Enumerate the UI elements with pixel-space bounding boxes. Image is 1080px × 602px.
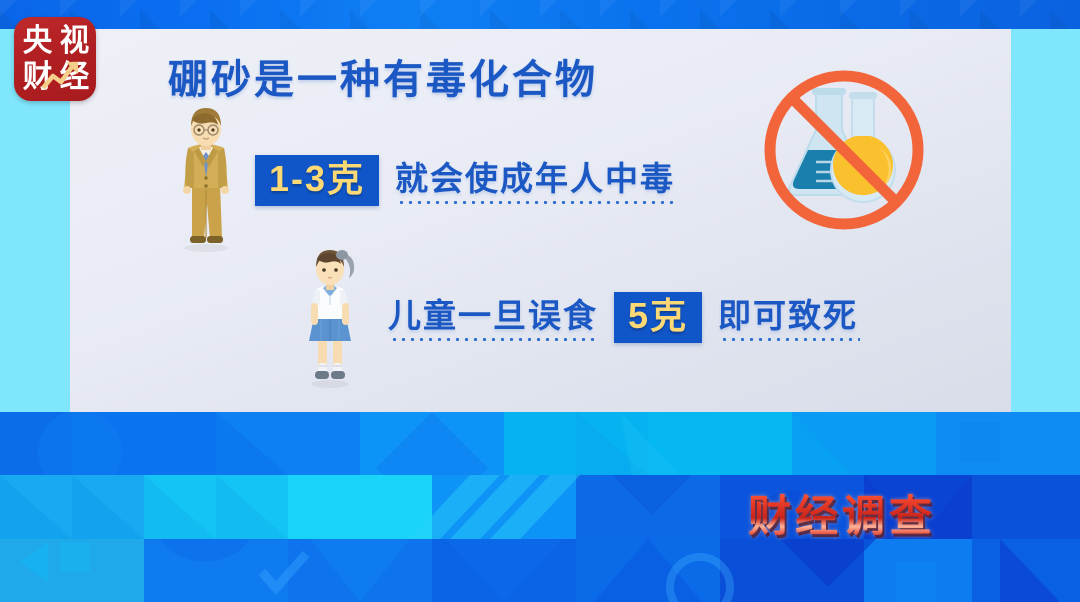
logo-char-2: 视 <box>59 25 88 56</box>
dose-badge-child: 5克 <box>614 292 702 343</box>
adult-man-illustration <box>166 104 246 252</box>
logo-char-4: 经 <box>59 61 88 92</box>
statement-adult-text: 就会使成年人中毒 <box>393 156 677 205</box>
logo-char-1: 央 <box>22 25 51 56</box>
no-chemicals-icon <box>756 62 932 238</box>
top-blue-bar <box>0 0 1080 29</box>
logo-char-3: 财 <box>22 61 51 92</box>
statement-child: 儿童一旦误食 5克 即可致死 <box>386 292 860 343</box>
dose-badge-adult: 1-3克 <box>255 155 379 206</box>
child-girl-illustration <box>294 245 366 388</box>
broadcast-frame: 硼砂是一种有毒化合物 <box>0 0 1080 602</box>
adult-man-figure <box>166 104 246 252</box>
logo-characters: 央 视 财 经 <box>14 17 96 101</box>
child-girl-figure <box>294 245 366 388</box>
statement-adult: 1-3克 就会使成年人中毒 <box>255 155 677 206</box>
cctv-finance-logo[interactable]: 央 视 财 经 <box>14 17 96 101</box>
statement-child-text-before: 儿童一旦误食 <box>386 293 600 342</box>
statement-child-text-after: 即可致死 <box>716 293 860 342</box>
page-title: 硼砂是一种有毒化合物 <box>168 47 598 105</box>
show-title: 财经调查 <box>748 482 936 544</box>
right-cyan-strip <box>1011 29 1080 412</box>
